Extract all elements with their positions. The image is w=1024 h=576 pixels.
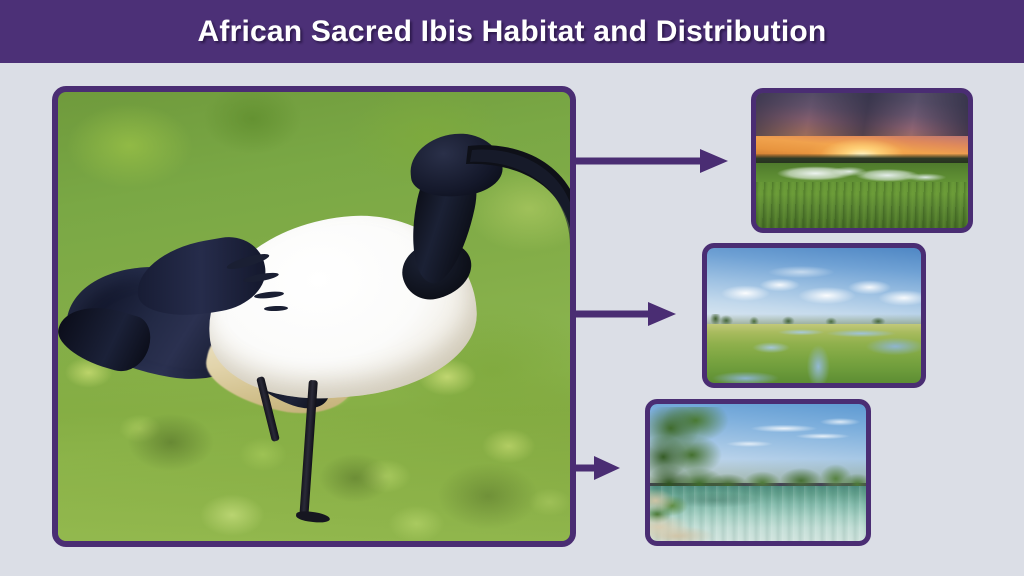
thumbnail-coastal-salt-marsh[interactable] <box>702 243 926 388</box>
thumbnail-1-canvas <box>756 93 968 228</box>
header-bar: African Sacred Ibis Habitat and Distribu… <box>0 0 1024 63</box>
slide-canvas: African Sacred Ibis Habitat and Distribu… <box>0 0 1024 576</box>
thumbnail-2-canvas <box>707 248 921 383</box>
page-title: African Sacred Ibis Habitat and Distribu… <box>198 15 827 49</box>
sandy-shoreline <box>650 478 741 541</box>
arrow-to-coastal-salt-marsh <box>576 301 676 327</box>
tidal-water-channels <box>707 324 921 383</box>
thumbnail-3-canvas <box>650 404 866 541</box>
ibis-illustration <box>58 92 570 541</box>
main-photo-ibis[interactable] <box>52 86 576 547</box>
arrow-to-freshwater-lake-shore <box>576 455 620 481</box>
marsh-grass <box>756 182 968 228</box>
sunset-clouds <box>756 93 968 136</box>
main-photo-canvas <box>58 92 570 541</box>
cumulus-clouds <box>707 259 921 318</box>
arrow-to-wetland-at-sunset <box>576 148 728 174</box>
thumbnail-wetland-at-sunset[interactable] <box>751 88 973 233</box>
thumbnail-freshwater-lake-shore[interactable] <box>645 399 871 546</box>
ibis-foot <box>296 510 331 523</box>
ibis-curved-bill-icon <box>462 138 570 268</box>
